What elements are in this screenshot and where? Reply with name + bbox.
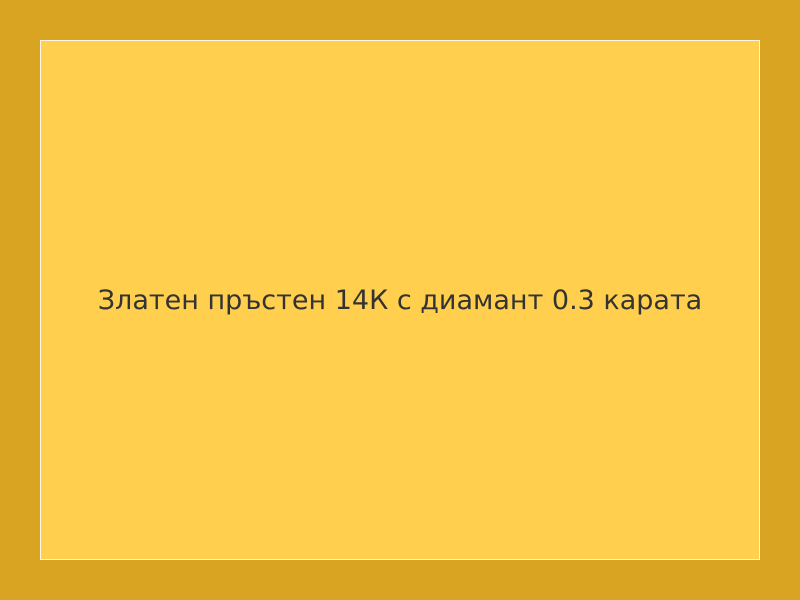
image-placeholder-panel: Златен пръстен 14К с диамант 0.3 карата [40,40,760,560]
placeholder-caption-text: Златен пръстен 14К с диамант 0.3 карата [41,284,759,318]
placeholder-canvas: Златен пръстен 14К с диамант 0.3 карата [0,0,800,600]
